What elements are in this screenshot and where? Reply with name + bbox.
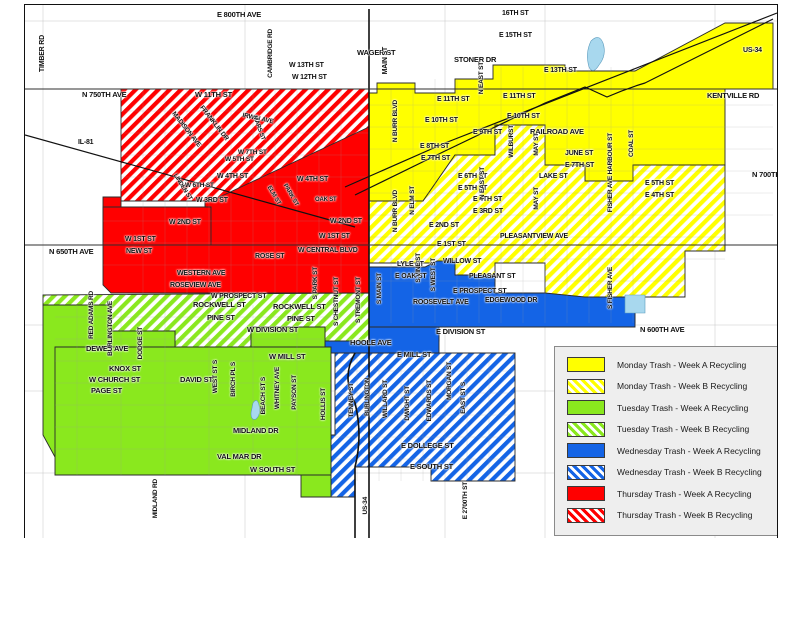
legend-label: Wednesday Trash - Week A Recycling [617, 446, 761, 456]
footer-bar: LRS Kewanee, IL - Waste Service Day & Se… [0, 538, 800, 619]
legend-row: Tuesday Trash - Week A Recycling [567, 397, 778, 419]
legend-label: Thursday Trash - Week B Recycling [617, 510, 752, 520]
legend-swatch [567, 508, 605, 523]
legend-label: Monday Trash - Week B Recycling [617, 381, 747, 391]
legend-label: Tuesday Trash - Week B Recycling [617, 424, 749, 434]
legend-swatch [567, 443, 605, 458]
waste-service-map-page: E 800TH AVE16TH STE 15TH STW 13TH STE 13… [0, 0, 800, 619]
legend-row: Wednesday Trash - Week A Recycling [567, 440, 778, 462]
legend-swatch [567, 400, 605, 415]
water-body [587, 37, 604, 70]
legend-swatch [567, 379, 605, 394]
map-frame: E 800TH AVE16TH STE 15TH STW 13TH STE 13… [24, 4, 778, 540]
legend-row: Tuesday Trash - Week B Recycling [567, 419, 778, 441]
water-body-small-2 [625, 295, 645, 313]
zone-thursday-week-a-west-lobe [103, 207, 211, 245]
legend-swatch [567, 357, 605, 372]
legend-swatch [567, 486, 605, 501]
legend-swatch [567, 422, 605, 437]
legend-swatch [567, 465, 605, 480]
legend-row: Monday Trash - Week A Recycling [567, 354, 778, 376]
zone-tuesday-week-a-south [55, 347, 331, 475]
legend-label: Thursday Trash - Week A Recycling [617, 489, 751, 499]
legend-row: Monday Trash - Week B Recycling [567, 376, 778, 398]
legend-row: Wednesday Trash - Week B Recycling [567, 462, 778, 484]
legend-label: Tuesday Trash - Week A Recycling [617, 403, 748, 413]
legend-panel: Monday Trash - Week A RecyclingMonday Tr… [554, 346, 778, 536]
legend-row: Thursday Trash - Week A Recycling [567, 483, 778, 505]
legend-row: Thursday Trash - Week B Recycling [567, 505, 778, 527]
legend-label: Wednesday Trash - Week B Recycling [617, 467, 762, 477]
legend-label: Monday Trash - Week A Recycling [617, 360, 746, 370]
